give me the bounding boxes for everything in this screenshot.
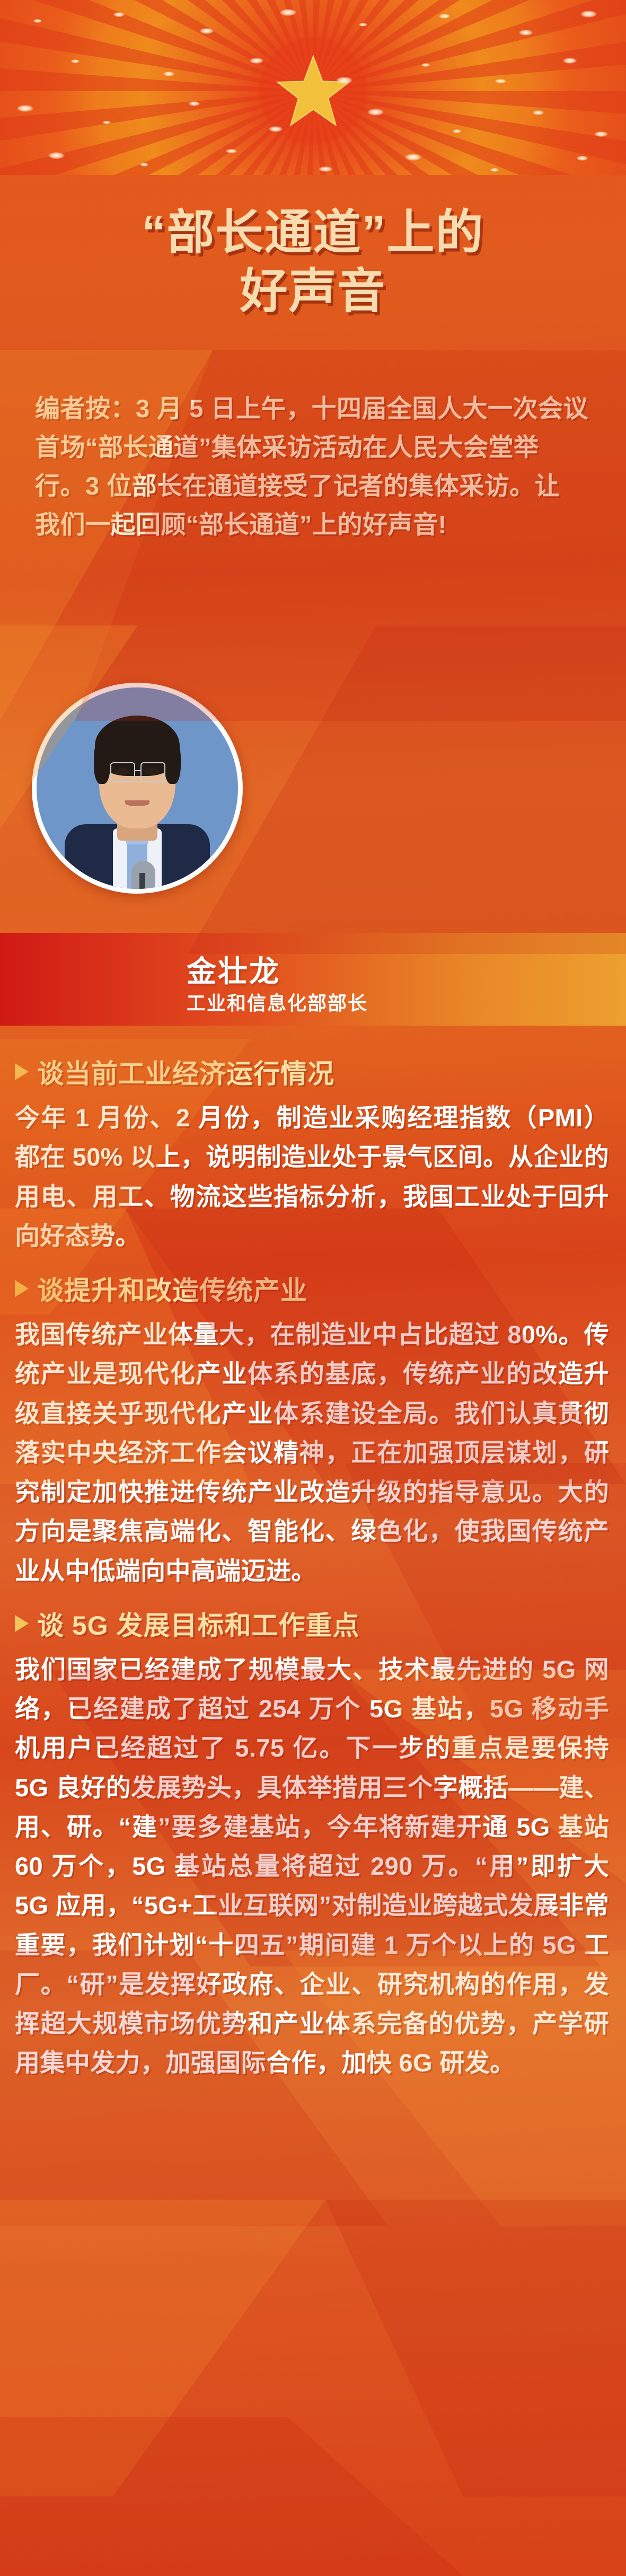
background-facet <box>0 2200 626 2496</box>
five-pointed-star-icon <box>274 52 353 129</box>
editor-note-line: 我们一起回顾“部长通道”上的好声音! <box>35 506 592 544</box>
section-heading: 谈提升和改造传统产业 <box>15 1269 609 1308</box>
section-title: 谈提升和改造传统产业 <box>37 1269 307 1308</box>
section-industrial-economy: 谈当前工业经济运行情况 今年 1 月份、2 月份，制造业采购经理指数（PMI）都… <box>0 1053 626 1256</box>
editor-note-line: 编者按：3 月 5 日上午，十四届全国人大一次会议 <box>35 390 592 428</box>
background-facet <box>0 2200 626 2496</box>
header-sunburst <box>0 0 626 175</box>
triangle-bullet-icon <box>15 1280 29 1297</box>
section-body: 我国传统产业体量大，在制造业中占比超过 80%。传统产业是现代化产业体系的基底，… <box>15 1315 609 1591</box>
name-banner: 金壮龙 工业和信息化部部长 <box>0 933 626 1026</box>
avatar <box>32 683 243 894</box>
content-sections: 谈当前工业经济运行情况 今年 1 月份、2 月份，制造业采购经理指数（PMI）都… <box>0 1039 626 2083</box>
editor-note: 编者按：3 月 5 日上午，十四届全国人大一次会议 首场“部长通道”集体采访活动… <box>35 390 592 544</box>
section-heading: 谈当前工业经济运行情况 <box>15 1053 609 1091</box>
section-title: 谈 5G 发展目标和工作重点 <box>37 1604 359 1643</box>
title-line-2: 好声音 <box>240 266 386 317</box>
page-title: “部长通道”上的 好声音 <box>0 175 626 350</box>
person-name: 金壮龙 <box>187 948 280 991</box>
triangle-bullet-icon <box>15 1063 29 1080</box>
person-role: 工业和信息化部部长 <box>187 988 368 1016</box>
title-line-1: “部长通道”上的 <box>142 207 484 259</box>
portrait-photo <box>32 683 243 894</box>
poster-page: “部长通道”上的 好声音 编者按：3 月 5 日上午，十四届全国人大一次会议 首… <box>0 0 626 2576</box>
editor-note-line: 行。3 位部长在通道接受了记者的集体采访。让 <box>35 467 592 506</box>
editor-note-line: 首场“部长通道”集体采访活动在人民大会堂举 <box>35 428 592 467</box>
section-title: 谈当前工业经济运行情况 <box>37 1053 334 1091</box>
section-heading: 谈 5G 发展目标和工作重点 <box>15 1604 609 1643</box>
section-traditional-industry: 谈提升和改造传统产业 我国传统产业体量大，在制造业中占比超过 80%。传统产业是… <box>0 1269 626 1591</box>
section-body: 今年 1 月份、2 月份，制造业采购经理指数（PMI）都在 50% 以上，说明制… <box>15 1098 609 1256</box>
section-body: 我们国家已经建成了规模最大、技术最先进的 5G 网络，已经建成了超过 254 万… <box>15 1650 609 2083</box>
section-5g-development: 谈 5G 发展目标和工作重点 我们国家已经建成了规模最大、技术最先进的 5G 网… <box>0 1604 626 2083</box>
background-facet <box>0 2417 626 2576</box>
triangle-bullet-icon <box>15 1615 29 1632</box>
